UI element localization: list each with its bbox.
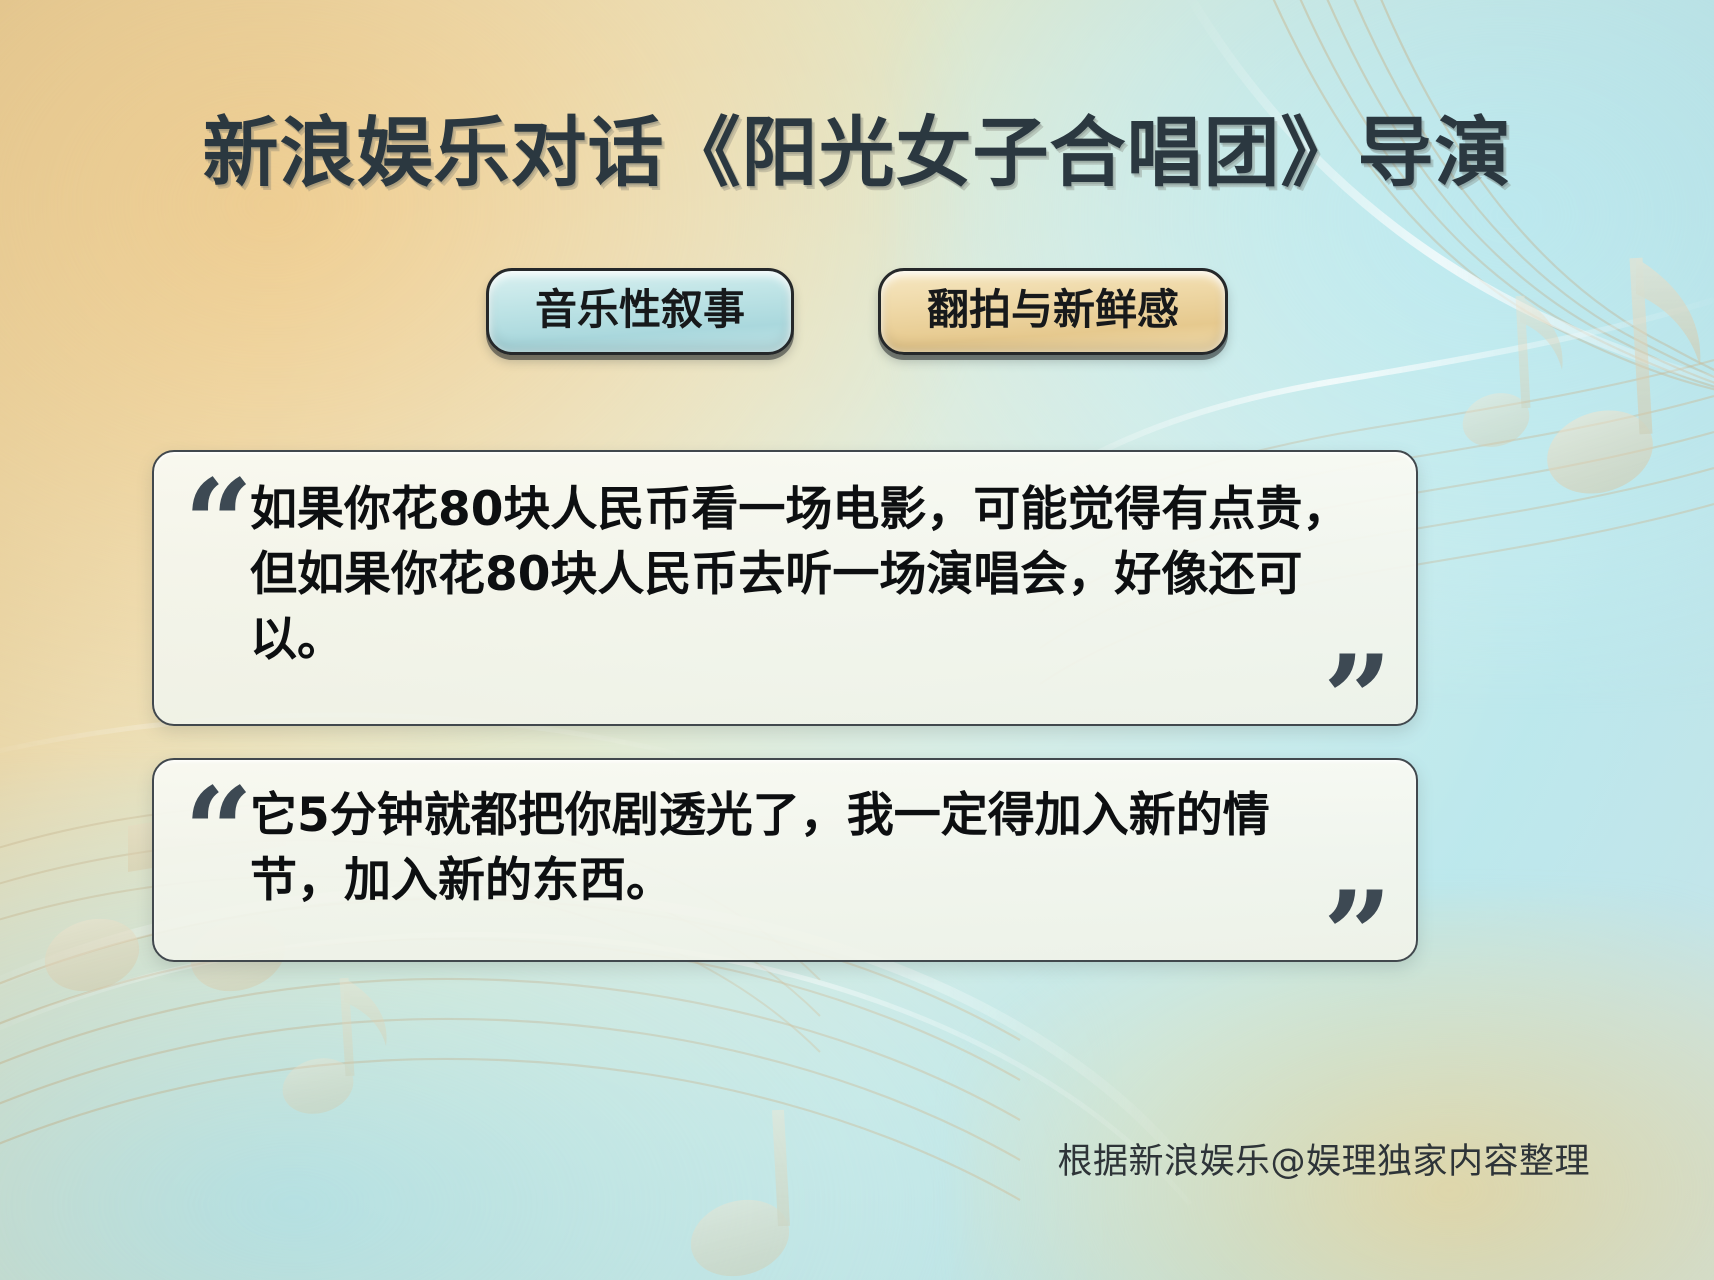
footer-attribution: 根据新浪娱乐@娱理独家内容整理 (1057, 1133, 1590, 1184)
quote-card-2: “ 它5分钟就都把你剧透光了，我一定得加入新的情节，加入新的东西。 ” (152, 758, 1418, 962)
tag-row: 音乐性叙事 翻拍与新鲜感 (0, 268, 1714, 355)
poster-content: 新浪娱乐对话《阳光女子合唱团》导演 音乐性叙事 翻拍与新鲜感 “ 如果你花80块… (0, 0, 1714, 1280)
tag-remake-freshness-label: 翻拍与新鲜感 (927, 285, 1179, 334)
tag-musical-narrative-label: 音乐性叙事 (535, 285, 745, 334)
tag-musical-narrative[interactable]: 音乐性叙事 (486, 268, 794, 355)
quote-close-icon: ” (1323, 640, 1392, 726)
quote-open-icon: “ (184, 772, 253, 892)
quote-card-1: “ 如果你花80块人民币看一场电影，可能觉得有点贵，但如果你花80块人民币去听一… (152, 450, 1418, 726)
quote-close-icon: ” (1323, 876, 1392, 962)
tag-remake-freshness[interactable]: 翻拍与新鲜感 (878, 268, 1228, 355)
page-title: 新浪娱乐对话《阳光女子合唱团》导演 (0, 108, 1714, 198)
quote-card-2-text: 它5分钟就都把你剧透光了，我一定得加入新的情节，加入新的东西。 (250, 784, 1360, 914)
quote-card-1-text: 如果你花80块人民币看一场电影，可能觉得有点贵，但如果你花80块人民币去听一场演… (250, 478, 1360, 673)
quote-open-icon: “ (184, 464, 253, 584)
